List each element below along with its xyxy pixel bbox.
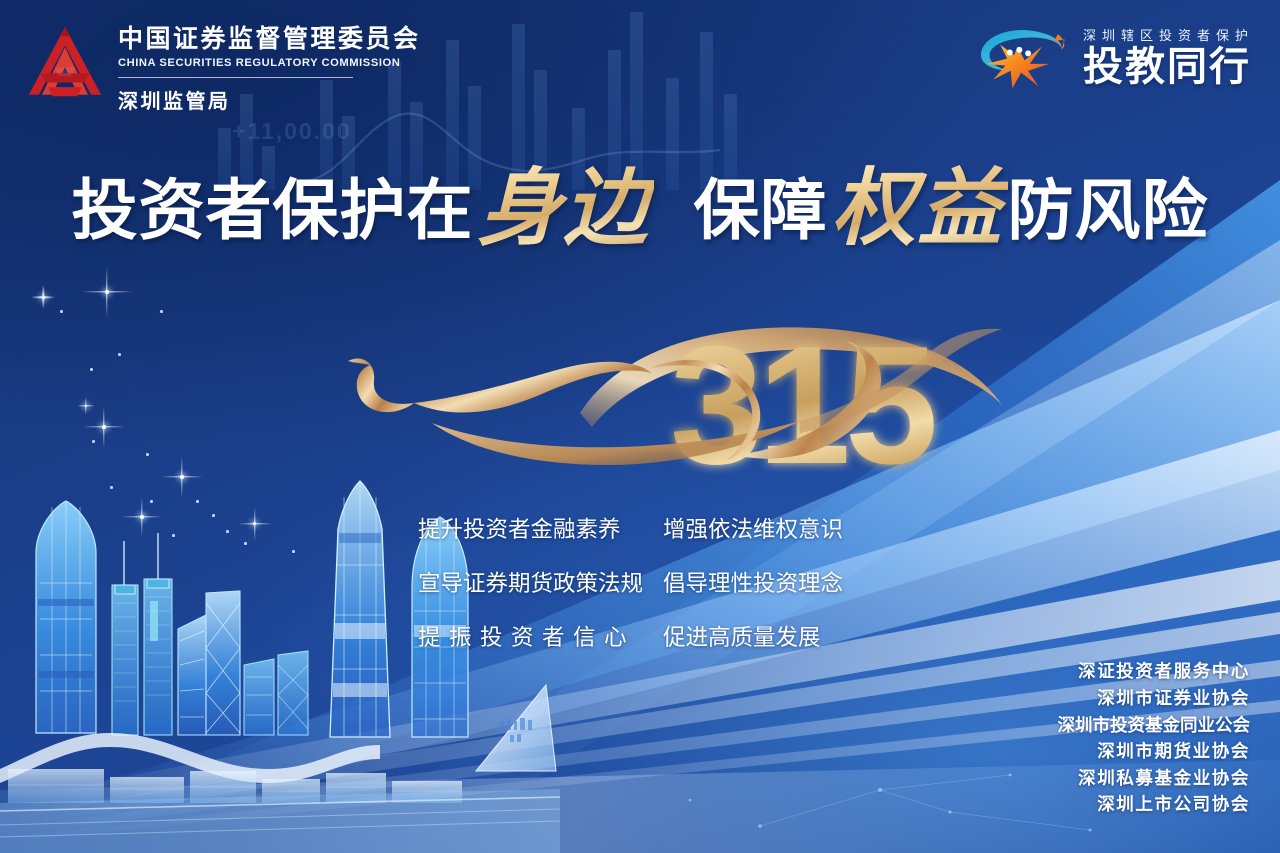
emblem-number-315: 315 <box>670 311 934 485</box>
slogan-item: 宣导证券期货政策法规 <box>418 566 663 598</box>
csrc-logo: 中国证券监督管理委员会 CHINA SECURITIES REGULATORY … <box>26 24 421 114</box>
slogan-item: 提振投资者信心 <box>418 620 663 652</box>
poster-canvas: +11,00.00 <box>0 0 1280 853</box>
headline-part2-gold: 权益 <box>828 163 1008 256</box>
csrc-name-en: CHINA SECURITIES REGULATORY COMMISSION <box>118 57 421 69</box>
headline-part1-white: 投资者保护在 <box>71 173 473 247</box>
headline-part2-white: 保障 <box>694 173 828 247</box>
organization-item: 深证投资者服务中心 <box>1058 658 1251 685</box>
investor-education-swoosh-icon <box>974 20 1070 92</box>
organization-item: 深圳上市公司协会 <box>1058 791 1251 818</box>
main-headline: 投资者保护在身边保障权益防风险 <box>0 168 1280 252</box>
organization-item: 深圳市投资基金同业公会 <box>1058 712 1251 739</box>
slogan-grid: 提升投资者金融素养 增强依法维权意识 宣导证券期货政策法规 倡导理性投资理念 提… <box>418 512 878 652</box>
organization-item: 深圳市证券业协会 <box>1058 685 1251 712</box>
csrc-name-cn: 中国证券监督管理委员会 <box>118 26 421 53</box>
headline-part3-white: 防风险 <box>1008 173 1209 247</box>
headline-part1-gold: 身边 <box>473 163 653 256</box>
organization-list: 深证投资者服务中心 深圳市证券业协会 深圳市投资基金同业公会 深圳市期货业协会 … <box>1058 658 1251 818</box>
organization-item: 深圳私募基金业协会 <box>1058 765 1251 792</box>
slogan-item: 增强依法维权意识 <box>663 512 853 544</box>
investor-education-logo: 深圳辖区投资者保护 投教同行 <box>974 20 1254 92</box>
csrc-bureau-label: 深圳监管局 <box>118 85 421 114</box>
program-title: 投教同行 <box>1083 47 1254 87</box>
slogan-item: 倡导理性投资理念 <box>663 566 853 598</box>
csrc-triangle-emblem-icon <box>26 24 104 104</box>
csrc-divider <box>118 77 353 78</box>
slogan-item: 促进高质量发展 <box>663 620 853 652</box>
gold-315-ribbon-emblem-icon: 315 <box>330 295 1010 485</box>
organization-item: 深圳市期货业协会 <box>1058 738 1251 765</box>
program-tagline: 深圳辖区投资者保护 <box>1083 25 1254 44</box>
background-ticker-text: +11,00.00 <box>232 118 352 145</box>
slogan-item: 提升投资者金融素养 <box>418 512 663 544</box>
